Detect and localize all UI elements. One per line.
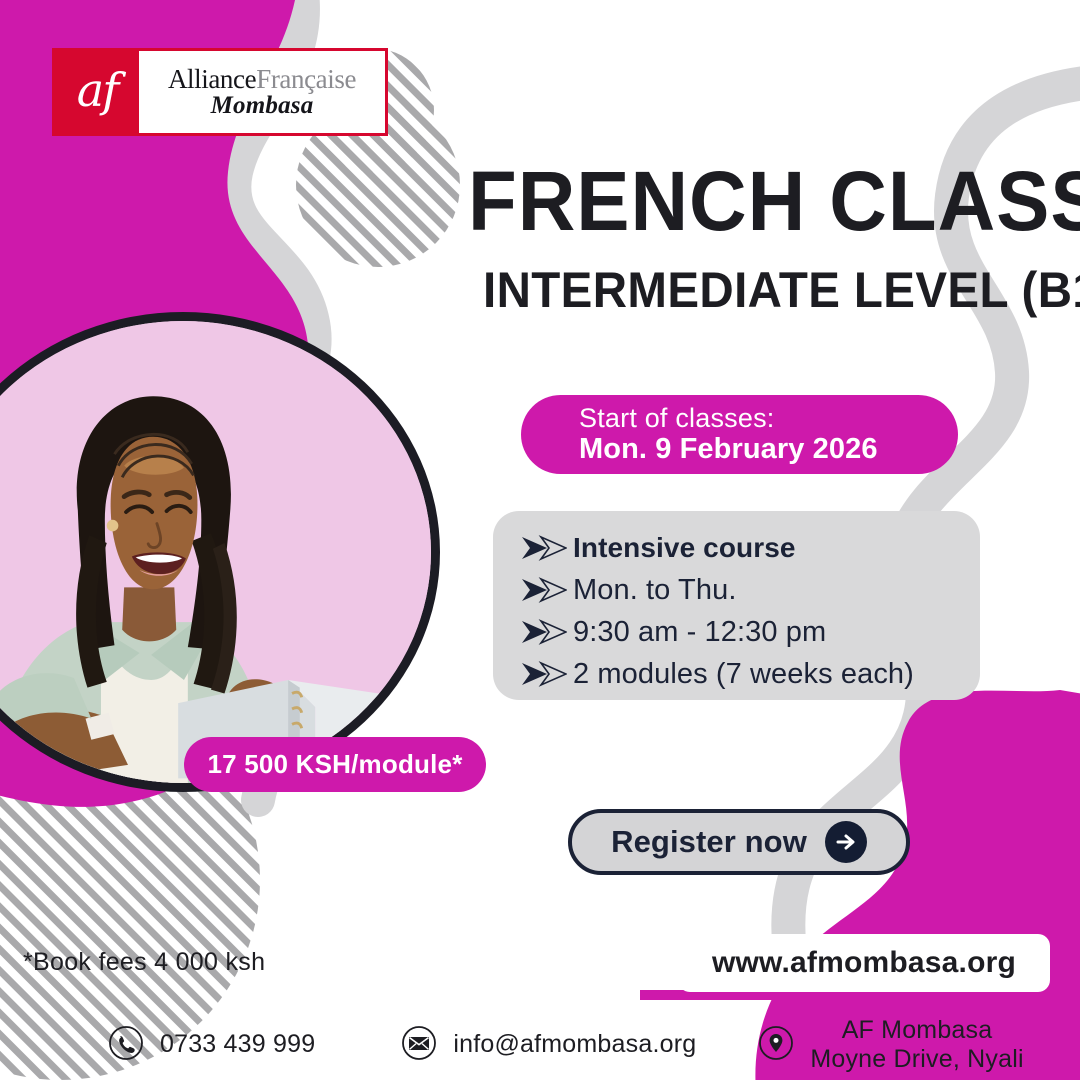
envelope-icon: [401, 1025, 437, 1066]
website-badge[interactable]: www.afmombasa.org: [678, 934, 1050, 992]
list-item-label: 9:30 am - 12:30 pm: [573, 616, 826, 649]
contact-location-line2: Moyne Drive, Nyali: [810, 1045, 1023, 1073]
contact-location-line1: AF Mombasa: [842, 1016, 993, 1044]
logo-monogram: af: [55, 51, 139, 133]
logo-city: Mombasa: [211, 93, 314, 119]
list-item: 9:30 am - 12:30 pm: [521, 611, 980, 653]
contact-email-value: info@afmombasa.org: [453, 1030, 696, 1060]
arrow-right-icon: [825, 821, 867, 863]
double-chevron-arrow-icon: [521, 661, 573, 687]
course-details-panel: Intensive course Mon. to Thu. 9:30 am - …: [493, 511, 980, 700]
logo-name-line: AllianceFrançaise: [168, 65, 356, 93]
contact-phone[interactable]: 0733 439 999: [108, 1025, 315, 1066]
register-now-button[interactable]: Register now: [568, 809, 910, 875]
poster-canvas: af AllianceFrançaise Mombasa FRENCH CLAS…: [0, 0, 1080, 1080]
page-title: FRENCH CLASSES: [468, 163, 1080, 240]
list-item-label: 2 modules (7 weeks each): [573, 658, 914, 691]
book-fees-footnote: *Book fees 4 000 ksh: [23, 948, 265, 977]
list-item: Intensive course: [521, 527, 980, 569]
double-chevron-arrow-icon: [521, 577, 573, 603]
page-subtitle: INTERMEDIATE LEVEL (B1): [483, 265, 1080, 315]
contact-location[interactable]: AF Mombasa Moyne Drive, Nyali: [758, 1016, 1023, 1075]
list-item: 2 modules (7 weeks each): [521, 653, 980, 695]
register-now-label: Register now: [611, 824, 807, 860]
list-item-label: Intensive course: [573, 532, 796, 564]
student-photo: [0, 312, 440, 792]
logo-wordmark: AllianceFrançaise Mombasa: [139, 51, 385, 133]
double-chevron-arrow-icon: [521, 535, 573, 561]
list-item: Mon. to Thu.: [521, 569, 980, 611]
alliance-francaise-logo: af AllianceFrançaise Mombasa: [52, 48, 388, 136]
logo-name-alliance: Alliance: [168, 64, 256, 94]
double-chevron-arrow-icon: [521, 619, 573, 645]
price-badge: 17 500 KSH/module*: [184, 737, 486, 792]
contact-phone-value: 0733 439 999: [160, 1030, 315, 1060]
logo-name-francaise: Française: [256, 64, 356, 94]
map-pin-icon: [758, 1025, 794, 1066]
contact-email[interactable]: info@afmombasa.org: [401, 1025, 696, 1066]
start-date-value: Mon. 9 February 2026: [579, 433, 958, 465]
contact-location-value: AF Mombasa Moyne Drive, Nyali: [810, 1016, 1023, 1075]
student-photo-illustration: [0, 321, 431, 784]
start-date-label: Start of classes:: [579, 403, 958, 433]
contact-bar: 0733 439 999 info@afmombasa.org: [0, 1010, 1080, 1080]
start-date-badge: Start of classes: Mon. 9 February 2026: [521, 395, 958, 474]
phone-icon: [108, 1025, 144, 1066]
list-item-label: Mon. to Thu.: [573, 574, 736, 607]
